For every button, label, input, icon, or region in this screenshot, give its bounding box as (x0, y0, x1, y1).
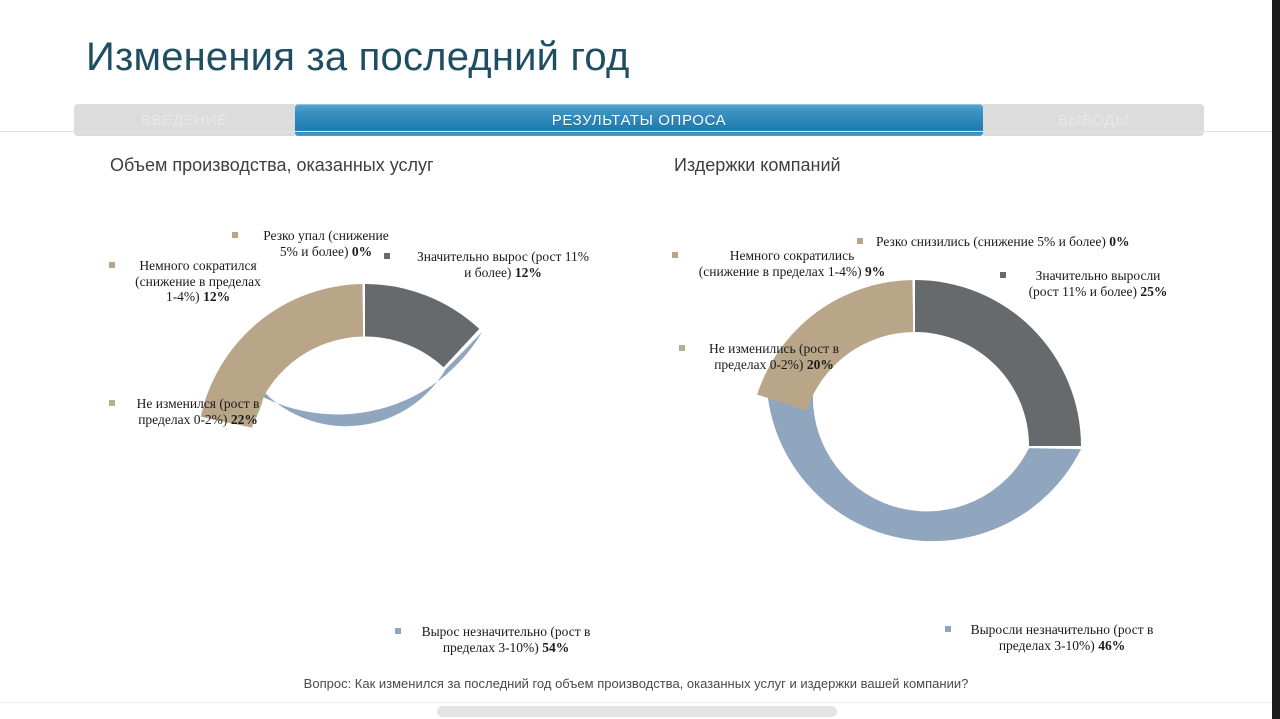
legend-marker-icon (232, 232, 238, 238)
callout-line: пределах 0-2%) 20% (692, 357, 856, 373)
callout-value: 9% (865, 264, 885, 279)
callout-line: Выросли незначительно (рост в (956, 622, 1168, 638)
callout-value: 22% (231, 412, 258, 427)
slide-canvas: Изменения за последний год ВВЕДЕНИЕ РЕЗУ… (0, 0, 1280, 719)
donut-chart-production (190, 257, 540, 647)
horizontal-scrollbar-track[interactable] (0, 702, 1272, 719)
callout-value: 0% (352, 244, 372, 259)
callout-line: (рост 11% и более) 25% (1012, 284, 1184, 300)
callout-line: Резко снизились (снижение 5% и более) 0% (876, 234, 1186, 250)
legend-marker-icon (945, 626, 951, 632)
nav-tab-introduction-label: ВВЕДЕНИЕ (141, 112, 228, 129)
callout-line: (снижение в пределах (118, 274, 278, 290)
callout-line: пределах 0-2%) 22% (118, 412, 278, 428)
legend-marker-icon (109, 262, 115, 268)
callout-line: Вырос незначительно (рост в (406, 624, 606, 640)
callout-value: 54% (542, 640, 569, 655)
nav-tab-survey-results-label: РЕЗУЛЬТАТЫ ОПРОСА (552, 112, 726, 129)
callout-line: пределах 3-10%) 54% (406, 640, 606, 656)
callout-value: 12% (515, 265, 542, 280)
donut-slice-costs-znachitelno-vyrosli[interactable] (915, 280, 1081, 446)
callout-line: Не изменились (рост в (692, 341, 856, 357)
callout-costs-znachitelno-vyrosli: Значительно выросли (рост 11% и более) 2… (1012, 268, 1184, 299)
question-footnote: Вопрос: Как изменился за последний год о… (0, 676, 1272, 691)
callout-costs-ne-izmenilis: Не изменились (рост в пределах 0-2%) 20% (692, 341, 856, 372)
donut-chart-costs (750, 253, 1100, 643)
callout-line: Немного сократился (118, 258, 278, 274)
callout-costs-rezko-snizilis: Резко снизились (снижение 5% и более) 0% (876, 234, 1186, 250)
callout-line: Значительно вырос (рост 11% (398, 249, 608, 265)
callout-costs-nemnogo-sokratilis: Немного сократились (снижение в пределах… (686, 248, 898, 279)
callout-line: пределах 3-10%) 46% (956, 638, 1168, 654)
horizontal-scrollbar-thumb[interactable] (437, 706, 837, 717)
legend-marker-icon (395, 628, 401, 634)
callout-costs-vyrosli-neznachitelno: Выросли незначительно (рост в пределах 3… (956, 622, 1168, 653)
legend-marker-icon (857, 238, 863, 244)
callout-value: 0% (1109, 234, 1129, 249)
header-divider (0, 131, 1272, 132)
legend-marker-icon (109, 400, 115, 406)
callout-line: Немного сократились (686, 248, 898, 264)
callout-production-vyros-neznachitelno: Вырос незначительно (рост в пределах 3-1… (406, 624, 606, 655)
page-title: Изменения за последний год (86, 32, 630, 82)
callout-value: 12% (203, 289, 230, 304)
callout-value: 46% (1098, 638, 1125, 653)
callout-line: (снижение в пределах 1-4%) 9% (686, 264, 898, 280)
callout-line: Резко упал (снижение (246, 228, 406, 244)
right-edge-band (1272, 0, 1280, 719)
nav-tab-conclusions-label: ВЫВОДЫ (1058, 112, 1129, 129)
callout-production-rezko-upal: Резко упал (снижение 5% и более) 0% (246, 228, 406, 259)
legend-marker-icon (672, 252, 678, 258)
callout-line: Значительно выросли (1012, 268, 1184, 284)
chart-heading-costs: Издержки компаний (674, 155, 841, 176)
callout-line: 5% и более) 0% (246, 244, 406, 260)
legend-marker-icon (679, 345, 685, 351)
callout-line: и более) 12% (398, 265, 608, 281)
callout-value: 25% (1140, 284, 1167, 299)
chart-heading-production: Объем производства, оказанных услуг (110, 155, 434, 176)
callout-line: Не изменился (рост в (118, 396, 278, 412)
callout-production-znachitelno-vyros: Значительно вырос (рост 11% и более) 12% (398, 249, 608, 280)
callout-production-nemnogo-sokratilsya: Немного сократился (снижение в пределах … (118, 258, 278, 305)
callout-production-ne-izmenilsya: Не изменился (рост в пределах 0-2%) 22% (118, 396, 278, 427)
legend-marker-icon (384, 253, 390, 259)
legend-marker-icon (1000, 272, 1006, 278)
callout-line: 1-4%) 12% (118, 289, 278, 305)
callout-value: 20% (807, 357, 834, 372)
